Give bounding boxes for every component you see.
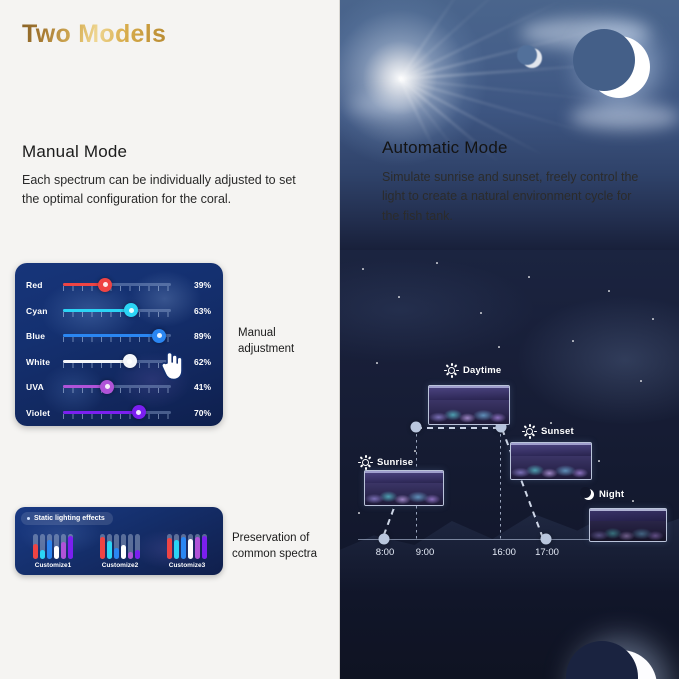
preservation-note: Preservation of common spectra: [232, 531, 336, 563]
stage-sunrise[interactable]: Sunrise: [358, 455, 413, 470]
timeline-vtick-16: [500, 428, 501, 539]
bullet-dot-icon: [27, 517, 30, 520]
slider-label-violet: Violet: [15, 408, 63, 418]
daytime-plateau: [416, 427, 502, 429]
stage-label-sunset: Sunset: [541, 426, 574, 437]
aquarium-tank-daytime: [428, 385, 510, 425]
slider-track-white[interactable]: [63, 355, 171, 369]
slider-track-blue[interactable]: [63, 329, 171, 343]
preset-bar: [54, 534, 59, 559]
preset-bar: [114, 534, 119, 559]
slider-knob-violet[interactable]: [132, 405, 146, 419]
slider-track-red[interactable]: [63, 278, 171, 292]
manual-mode-description: Each spectrum can be individually adjust…: [22, 171, 312, 209]
aquarium-tank-sunrise: [364, 470, 444, 506]
slider-value-violet: 70%: [171, 408, 223, 418]
light-cycle-timeline: 8:00 9:00 16:00 17:00 Sunrise: [340, 0, 679, 679]
static-lighting-effects-panel[interactable]: Static lighting effects Customize1Custom…: [15, 507, 223, 575]
aquarium-tank-night: [589, 508, 667, 542]
static-lighting-effects-label: Static lighting effects: [34, 515, 105, 522]
preset-bar: [61, 534, 66, 559]
stage-label-daytime: Daytime: [463, 365, 501, 376]
preset-bar: [47, 534, 52, 559]
time-label-16: 16:00: [492, 547, 516, 558]
slider-row-blue[interactable]: Blue89%: [15, 323, 223, 349]
slider-value-red: 39%: [171, 280, 223, 290]
preset-bar: [121, 534, 126, 559]
slider-row-white[interactable]: White62%: [15, 349, 223, 375]
sun-icon: [358, 455, 373, 470]
stage-daytime[interactable]: Daytime: [444, 363, 501, 378]
stage-label-night: Night: [599, 489, 624, 500]
manual-mode-heading: Manual Mode: [22, 142, 127, 162]
preset-label: Customize3: [159, 562, 215, 569]
slider-label-red: Red: [15, 280, 63, 290]
slider-row-red[interactable]: Red39%: [15, 272, 223, 298]
two-models-page: Two Models Manual Mode Each spectrum can…: [0, 0, 679, 679]
slider-value-white: 62%: [171, 357, 223, 367]
preset-bar: [167, 534, 172, 559]
static-lighting-effects-header: Static lighting effects: [21, 512, 113, 525]
preset-bar: [181, 534, 186, 559]
slider-label-white: White: [15, 357, 63, 367]
stage-sunset[interactable]: Sunset: [522, 424, 574, 439]
spectrum-slider-panel[interactable]: Red39%Cyan63%Blue89%White62%UVA41%Violet…: [15, 263, 223, 426]
slider-label-blue: Blue: [15, 331, 63, 341]
crescent-moon-icon: [582, 488, 595, 501]
slider-track-violet[interactable]: [63, 406, 171, 420]
timeline-node-9[interactable]: [411, 422, 422, 433]
preset-customize2[interactable]: Customize2: [92, 531, 148, 569]
preset-label: Customize2: [92, 562, 148, 569]
preset-label: Customize1: [25, 562, 81, 569]
page-title: Two Models: [22, 20, 166, 49]
preset-bar: [107, 534, 112, 559]
slider-label-cyan: Cyan: [15, 306, 63, 316]
slider-value-blue: 89%: [171, 331, 223, 341]
timeline-node-8[interactable]: [379, 534, 390, 545]
time-label-17: 17:00: [535, 547, 559, 558]
slider-row-uva[interactable]: UVA41%: [15, 374, 223, 400]
preset-bar: [40, 534, 45, 559]
preset-bar: [68, 534, 73, 559]
stage-night[interactable]: Night: [582, 488, 624, 501]
time-label-9: 9:00: [416, 547, 435, 558]
slider-knob-blue[interactable]: [152, 329, 166, 343]
slider-row-cyan[interactable]: Cyan63%: [15, 298, 223, 324]
preset-bar: [195, 534, 200, 559]
preset-customize1[interactable]: Customize1: [25, 531, 81, 569]
preset-bar: [135, 534, 140, 559]
sun-icon: [522, 424, 537, 439]
slider-track-cyan[interactable]: [63, 304, 171, 318]
slider-label-uva: UVA: [15, 382, 63, 392]
stage-label-sunrise: Sunrise: [377, 457, 413, 468]
manual-mode-panel: Two Models Manual Mode Each spectrum can…: [0, 0, 340, 679]
preset-bar: [174, 534, 179, 559]
sun-icon: [444, 363, 459, 378]
time-label-8: 8:00: [376, 547, 395, 558]
aquarium-tank-sunset: [510, 442, 592, 480]
preset-bar: [100, 534, 105, 559]
preset-bar: [128, 534, 133, 559]
preset-customize3[interactable]: Customize3: [159, 531, 215, 569]
preset-bar: [188, 534, 193, 559]
slider-value-uva: 41%: [171, 382, 223, 392]
slider-track-uva[interactable]: [63, 380, 171, 394]
slider-row-violet[interactable]: Violet70%: [15, 400, 223, 426]
slider-knob-white[interactable]: [123, 354, 137, 368]
preset-bar: [202, 534, 207, 559]
manual-adjustment-note: Manual adjustment: [238, 326, 330, 358]
slider-knob-red[interactable]: [98, 278, 112, 292]
automatic-mode-panel: Automatic Mode Simulate sunrise and suns…: [340, 0, 679, 679]
preset-bar: [33, 534, 38, 559]
slider-knob-uva[interactable]: [100, 380, 114, 394]
slider-knob-cyan[interactable]: [124, 303, 138, 317]
slider-value-cyan: 63%: [171, 306, 223, 316]
timeline-node-17[interactable]: [541, 534, 552, 545]
